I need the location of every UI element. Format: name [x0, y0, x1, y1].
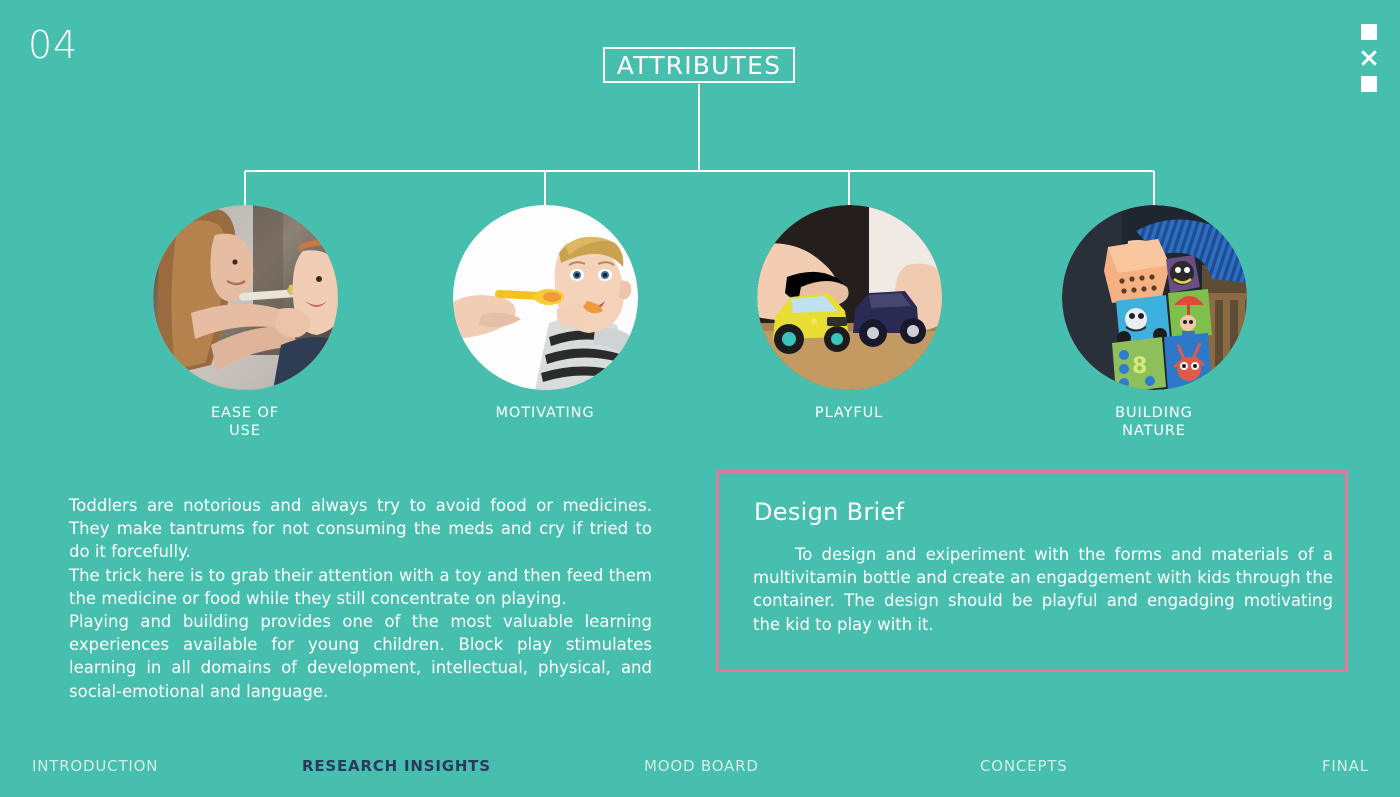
child-stacking-blocks-photo: 8 [1062, 205, 1247, 390]
attribute-node-building-nature[interactable]: 8 BUILDING NATURE [1054, 205, 1254, 440]
attribute-label: PLAYFUL [749, 404, 949, 422]
body-paragraph: Toddlers are notorious and always try to… [69, 494, 652, 564]
nav-item-mood-board[interactable]: MOOD BOARD [644, 757, 759, 775]
nav-item-final[interactable]: FINAL [1322, 757, 1369, 775]
attributes-row: EASE OF USE [0, 205, 1400, 455]
section-nav: INTRODUCTION RESEARCH INSIGHTS MOOD BOAR… [0, 757, 1400, 787]
nav-item-introduction[interactable]: INTRODUCTION [32, 757, 158, 775]
nav-item-concepts[interactable]: CONCEPTS [980, 757, 1068, 775]
research-body-text: Toddlers are notorious and always try to… [69, 494, 652, 703]
body-paragraph: Playing and building provides one of the… [69, 610, 652, 703]
presentation-slide: 04 ATTRIBUTES [0, 0, 1400, 797]
connector-tree [0, 0, 1400, 230]
design-brief-title: Design Brief [754, 498, 904, 526]
attribute-label: MOTIVATING [445, 404, 645, 422]
attribute-node-ease-of-use[interactable]: EASE OF USE [145, 205, 345, 440]
child-hands-toy-cars-photo [757, 205, 942, 390]
nav-item-research-insights[interactable]: RESEARCH INSIGHTS [302, 757, 491, 775]
body-paragraph: The trick here is to grab their attentio… [69, 564, 652, 610]
attribute-label: BUILDING NATURE [1054, 404, 1254, 440]
svg-text:8: 8 [1132, 354, 1147, 379]
design-brief-paragraph: To design and exiperiment with the forms… [753, 543, 1333, 636]
attribute-label: EASE OF USE [145, 404, 345, 440]
design-brief-body: To design and exiperiment with the forms… [753, 543, 1333, 636]
attribute-node-motivating[interactable]: MOTIVATING [445, 205, 645, 422]
design-brief-card: Design Brief To design and exiperiment w… [716, 470, 1348, 672]
baby-eating-yellow-spoon-photo [453, 205, 638, 390]
attribute-node-playful[interactable]: PLAYFUL [749, 205, 949, 422]
mother-feeding-toddler-spoon-photo [153, 205, 338, 390]
